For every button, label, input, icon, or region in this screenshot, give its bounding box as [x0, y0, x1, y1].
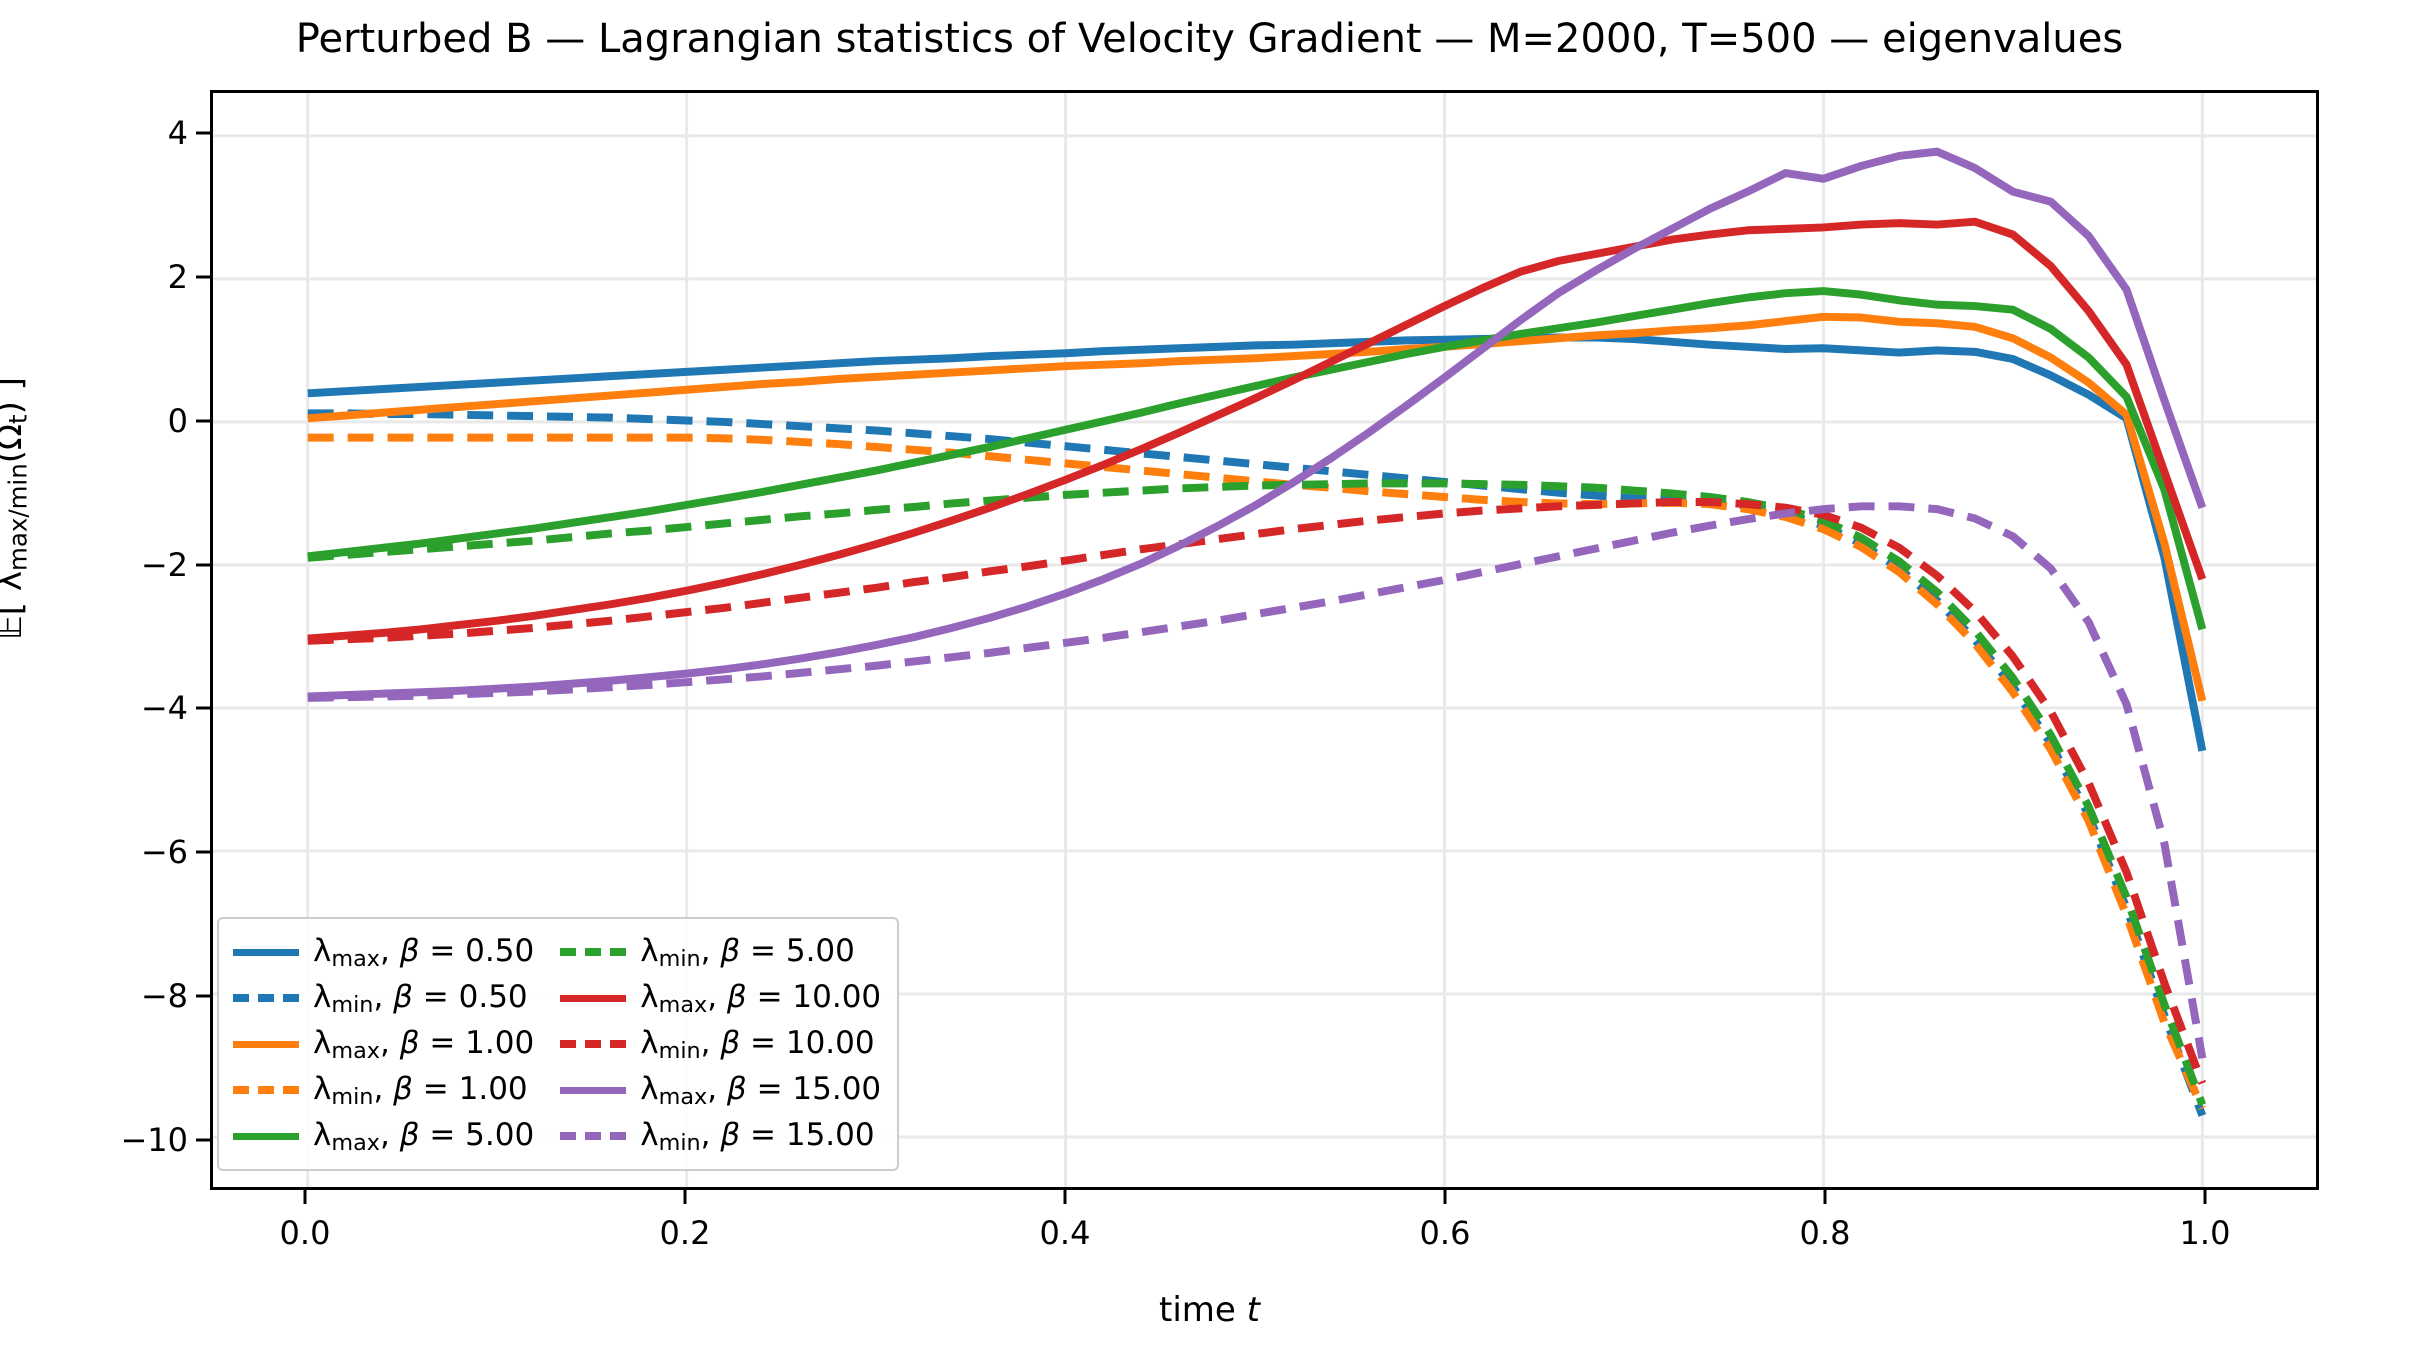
y-tick-label: 0: [168, 402, 188, 440]
x-tick-mark: [1824, 1190, 1827, 1204]
legend-item[interactable]: λmin, β = 10.00: [560, 1021, 881, 1067]
y-tick-mark: [196, 707, 210, 710]
legend-item-label: λmin, β = 1.00: [313, 1071, 528, 1110]
legend-item[interactable]: λmax, β = 15.00: [560, 1067, 881, 1113]
legend-item-label: λmax, β = 1.00: [313, 1025, 534, 1064]
legend-color-swatch: [233, 1086, 299, 1094]
y-tick-label: 2: [168, 258, 188, 296]
x-tick-label: 0.0: [280, 1214, 331, 1252]
legend-color-swatch: [560, 1132, 626, 1140]
y-tick-mark: [196, 994, 210, 997]
legend-item-label: λmin, β = 10.00: [640, 1025, 874, 1064]
y-tick-mark: [196, 563, 210, 566]
legend-item-label: λmax, β = 10.00: [640, 979, 881, 1018]
legend-color-swatch: [233, 994, 299, 1002]
y-tick-mark: [196, 419, 210, 422]
x-tick-label: 0.6: [1420, 1214, 1471, 1252]
y-tick-label: −8: [141, 977, 188, 1015]
series-line-6: [308, 222, 2203, 639]
legend-item-label: λmax, β = 15.00: [640, 1071, 881, 1110]
x-tick-label: 0.8: [1800, 1214, 1851, 1252]
legend-item[interactable]: λmax, β = 5.00: [233, 1113, 534, 1159]
legend-color-swatch: [233, 1133, 299, 1140]
legend-item[interactable]: λmin, β = 0.50: [233, 975, 534, 1021]
x-tick-label: 0.2: [660, 1214, 711, 1252]
legend-item-label: λmin, β = 15.00: [640, 1117, 874, 1156]
x-tick-mark: [684, 1190, 687, 1204]
x-tick-mark: [2204, 1190, 2207, 1204]
legend-item[interactable]: λmax, β = 10.00: [560, 975, 881, 1021]
legend-item[interactable]: λmin, β = 5.00: [560, 929, 881, 975]
y-axis-title: 𝔼[ λmax/min(Ωt) ]: [0, 377, 32, 640]
legend-item-label: λmax, β = 0.50: [313, 933, 534, 972]
legend-color-swatch: [233, 1041, 299, 1048]
legend-item-label: λmin, β = 0.50: [313, 979, 528, 1018]
x-tick-mark: [304, 1190, 307, 1204]
page-title: Perturbed B — Lagrangian statistics of V…: [0, 16, 2419, 62]
y-tick-mark: [196, 132, 210, 135]
legend-color-swatch: [560, 948, 626, 956]
legend-item-label: λmin, β = 5.00: [640, 933, 855, 972]
legend[interactable]: λmax, β = 0.50λmin, β = 5.00λmin, β = 0.…: [217, 917, 899, 1171]
x-tick-mark: [1444, 1190, 1447, 1204]
y-tick-mark: [196, 1138, 210, 1141]
x-axis-title: time t: [0, 1290, 2419, 1330]
x-tick-mark: [1064, 1190, 1067, 1204]
legend-color-swatch: [560, 1040, 626, 1048]
legend-item-label: λmax, β = 5.00: [313, 1117, 534, 1156]
y-tick-label: −6: [141, 833, 188, 871]
x-tick-label: 1.0: [2180, 1214, 2231, 1252]
legend-item[interactable]: λmax, β = 1.00: [233, 1021, 534, 1067]
series-line-8: [308, 152, 2203, 697]
chart-figure: Perturbed B — Lagrangian statistics of V…: [0, 0, 2419, 1354]
legend-item[interactable]: λmin, β = 1.00: [233, 1067, 534, 1113]
legend-item[interactable]: λmin, β = 15.00: [560, 1113, 881, 1159]
legend-item[interactable]: λmax, β = 0.50: [233, 929, 534, 975]
legend-color-swatch: [560, 995, 626, 1002]
legend-color-swatch: [560, 1087, 626, 1094]
y-tick-label: −10: [120, 1121, 188, 1159]
y-tick-mark: [196, 275, 210, 278]
y-tick-mark: [196, 851, 210, 854]
legend-color-swatch: [233, 949, 299, 956]
x-tick-label: 0.4: [1040, 1214, 1091, 1252]
y-tick-label: −4: [141, 689, 188, 727]
y-tick-label: −2: [141, 546, 188, 584]
y-tick-label: 4: [168, 114, 188, 152]
